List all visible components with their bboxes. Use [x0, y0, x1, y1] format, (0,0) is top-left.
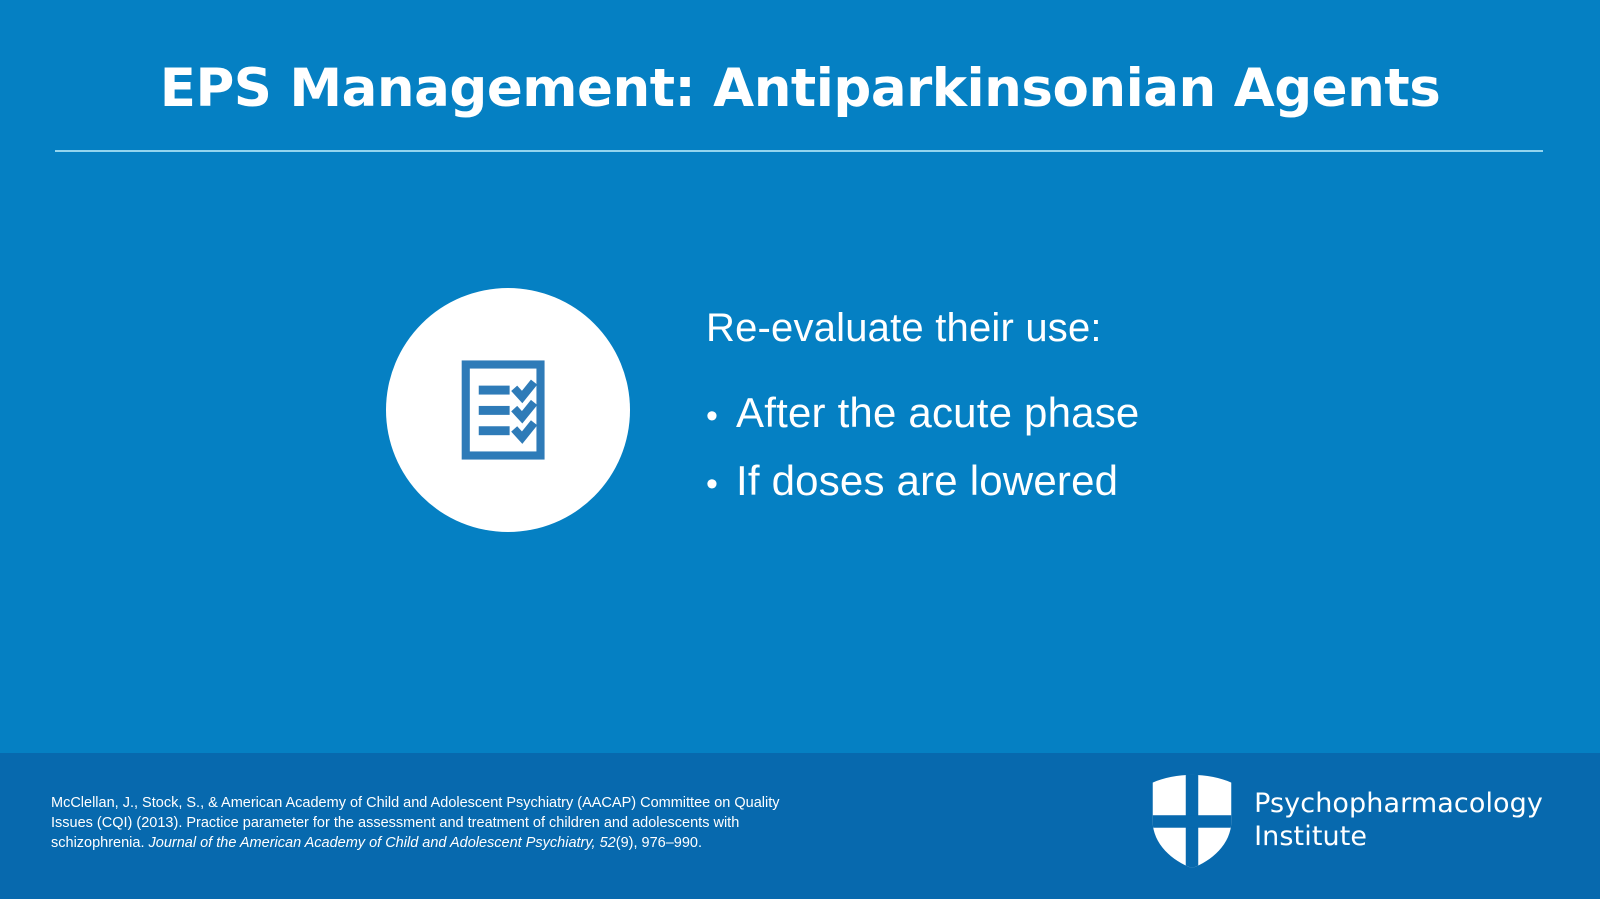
lead-text: Re-evaluate their use:: [706, 308, 1406, 348]
checklist-icon-badge: [386, 288, 630, 532]
bullet-marker-icon: •: [706, 399, 736, 433]
page-title: EPS Management: Antiparkinsonian Agents: [0, 60, 1600, 118]
citation-text: McClellan, J., Stock, S., & American Aca…: [51, 793, 791, 853]
title-divider: [55, 150, 1543, 152]
title-block: EPS Management: Antiparkinsonian Agents: [0, 60, 1600, 118]
list-item-label: After the acute phase: [736, 392, 1139, 434]
citation-journal: Journal of the American Academy of Child…: [149, 835, 616, 851]
slide: EPS Management: Antiparkinsonian Agents …: [0, 0, 1600, 899]
list-item: • If doses are lowered: [706, 460, 1406, 502]
footer-bar: McClellan, J., Stock, S., & American Aca…: [0, 753, 1600, 899]
brand-lockup: Psychopharmacology Institute: [1148, 773, 1543, 869]
brand-name: Psychopharmacology Institute: [1254, 788, 1543, 854]
content-area: Re-evaluate their use: • After the acute…: [0, 270, 1600, 570]
list-item: • After the acute phase: [706, 392, 1406, 434]
bullet-marker-icon: •: [706, 467, 736, 501]
text-column: Re-evaluate their use: • After the acute…: [706, 308, 1406, 528]
bullet-list: • After the acute phase • If doses are l…: [706, 392, 1406, 502]
checklist-icon: [456, 358, 560, 462]
shield-logo-icon: [1148, 773, 1236, 869]
list-item-label: If doses are lowered: [736, 460, 1118, 502]
citation-part-2: (9), 976–990.: [616, 835, 702, 851]
